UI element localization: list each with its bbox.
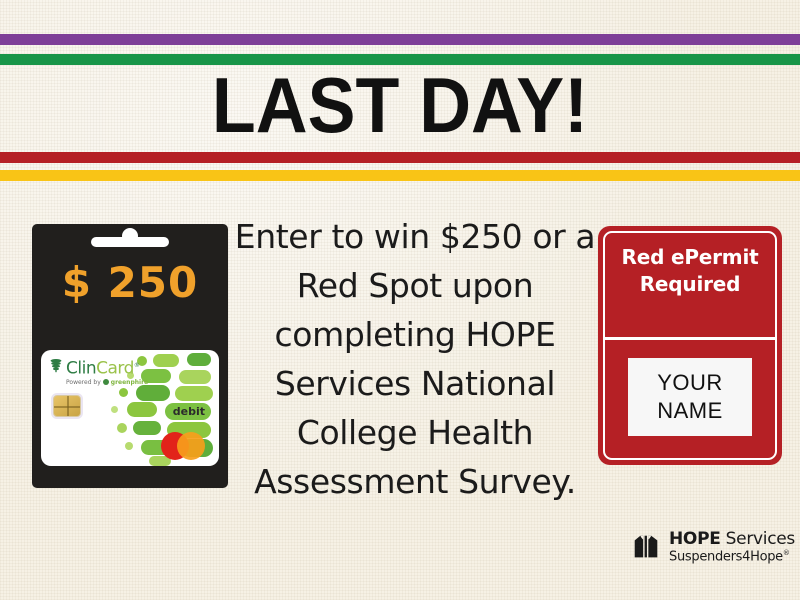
- body-copy: Enter to win $250 or a Red Spot upon com…: [232, 212, 598, 506]
- stripe-yellow: [0, 170, 800, 181]
- poster-canvas: LAST DAY! Enter to win $250 or a Red Spo…: [0, 0, 800, 600]
- suspenders-shirt-icon: [630, 531, 662, 563]
- clincard-powered-by: Powered by greenphire: [66, 379, 148, 386]
- hope-logo-bold: HOPE: [669, 529, 721, 549]
- permit-sign-divider: [605, 337, 775, 340]
- hope-logo-text: HOPE Services Suspenders4Hope®: [669, 531, 795, 563]
- hang-slot-icon: [91, 237, 169, 247]
- gift-card-amount: $ 250: [32, 258, 228, 307]
- greenphire-leaf-icon: [103, 379, 109, 385]
- permit-name-text: YOUR NAME: [657, 369, 723, 425]
- page-title: LAST DAY!: [32, 64, 768, 146]
- permit-name-box: YOUR NAME: [628, 358, 752, 436]
- permit-name-line1: YOUR: [657, 369, 723, 397]
- permit-name-line2: NAME: [657, 397, 723, 425]
- hope-registered-mark: ®: [783, 549, 790, 557]
- gift-card-package: $ 250: [32, 224, 228, 488]
- clincard-word-card: Card: [96, 359, 134, 379]
- hope-logo-name: HOPE Services: [669, 531, 795, 548]
- debit-label: debit: [173, 405, 205, 418]
- clincard-word-clin: Clin: [66, 359, 96, 379]
- stripe-red: [0, 152, 800, 163]
- clincard-trademark: ®: [134, 362, 140, 369]
- hope-logo-tagline: Suspenders4Hope®: [669, 550, 795, 563]
- hope-services-logo: HOPE Services Suspenders4Hope®: [630, 531, 795, 563]
- permit-sign: Red ePermit Required YOUR NAME: [598, 226, 782, 465]
- permit-sign-title: Red ePermit Required: [610, 244, 770, 298]
- stripe-purple: [0, 34, 800, 45]
- permit-title-line2: Required: [610, 271, 770, 298]
- hope-tagline-text: Suspenders4Hope: [669, 549, 783, 564]
- hope-logo-rest: Services: [721, 529, 795, 549]
- clincard-debit-card: ClinCard® Powered by greenphire debit: [41, 350, 219, 466]
- mastercard-icon: [161, 432, 205, 460]
- clincard-wordmark: ClinCard®: [66, 357, 148, 378]
- powered-by-label: Powered by: [66, 379, 101, 386]
- permit-title-line1: Red ePermit: [610, 244, 770, 271]
- emv-chip-icon: [53, 395, 81, 417]
- greenphire-label: greenphire: [111, 379, 148, 386]
- clincard-logo: ClinCard® Powered by greenphire: [49, 357, 148, 386]
- clincard-leaf-icon: [49, 358, 63, 373]
